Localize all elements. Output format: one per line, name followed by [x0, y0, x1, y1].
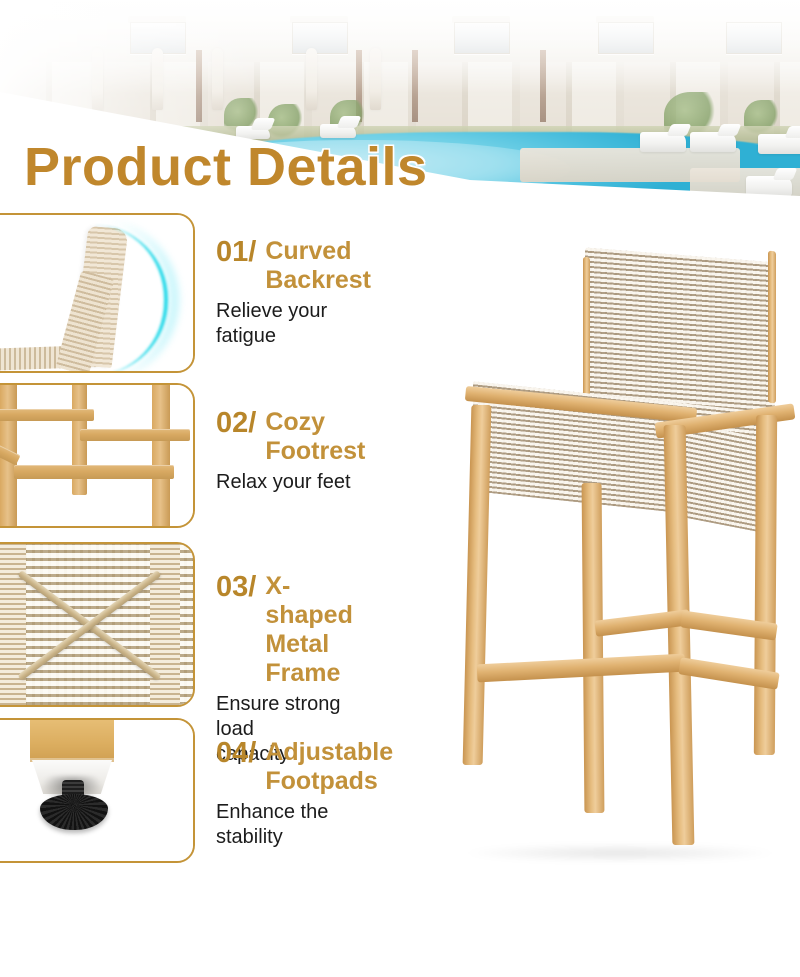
footrest-rail [0, 409, 94, 421]
feature-number-03: 03/ [216, 572, 256, 602]
feature-headline-03-line2: Metal Frame [265, 630, 353, 688]
banner-lounge-chair [690, 132, 736, 152]
feature-headline-04-line1: Adjustable [265, 738, 393, 767]
feature-number-02: 02/ [216, 408, 256, 438]
stool-backrest-weave [585, 248, 775, 413]
curved-backrest-thumbnail [0, 213, 195, 373]
mesh-side-rail [0, 544, 26, 705]
backrest-frame-right [768, 251, 776, 404]
page-title: Product Details [24, 136, 428, 198]
stool-leg-front-left [463, 405, 492, 765]
adjustable-footpads-thumbnail [0, 718, 195, 863]
banner-lounge-chair [746, 176, 792, 196]
feature-subtext-02: Relax your feet [216, 470, 365, 495]
banner-umbrella [212, 48, 223, 110]
feature-text-02: 02/ Cozy Footrest Relax your feet [216, 408, 365, 495]
banner-cabana-post [196, 50, 202, 122]
banner-umbrella [370, 48, 381, 110]
footrest-rail [14, 465, 174, 479]
banner-window [292, 22, 348, 54]
feature-headline-02-line2: Footrest [265, 437, 365, 466]
cozy-footrest-thumbnail [0, 383, 195, 528]
feature-number-01: 01/ [216, 237, 256, 267]
banner-lounge-chair [640, 132, 686, 152]
stool-leg [152, 385, 170, 526]
banner-cabana-post [412, 50, 418, 122]
footrest-rail [80, 429, 190, 441]
mesh-side-rail [150, 544, 180, 705]
stool-leg-front-right [582, 483, 605, 813]
feature-subtext-03-line1: Ensure strong load [216, 692, 353, 742]
x-shaped-metal-frame-thumbnail [0, 542, 195, 707]
product-image-bar-stool [455, 245, 800, 870]
header-banner: Product Details [0, 0, 800, 215]
feature-headline-01-line1: Curved [265, 237, 371, 266]
footrest-rail-front [477, 654, 686, 683]
banner-umbrella [306, 48, 317, 110]
banner-umbrella [152, 48, 163, 110]
feature-text-01: 01/ Curved Backrest Relieve your fatigue [216, 237, 371, 349]
feature-number-04: 04/ [216, 738, 256, 768]
stool-leg-back-left [754, 415, 777, 755]
feature-subtext-01: Relieve your fatigue [216, 299, 371, 349]
banner-window [454, 22, 510, 54]
banner-window [726, 22, 782, 54]
banner-lounge-chair [758, 134, 800, 154]
stool-leg-bottom [30, 720, 114, 762]
feature-headline-03-line1: X-shaped [265, 572, 353, 630]
feature-headline-02-line1: Cozy [265, 408, 365, 437]
product-floor-shadow [465, 844, 775, 862]
feature-subtext-04: Enhance the stability [216, 800, 393, 850]
banner-cabana-post [540, 50, 546, 122]
backrest-frame-left [583, 257, 590, 406]
banner-window [598, 22, 654, 54]
feature-headline-01-line2: Backrest [265, 266, 371, 295]
feature-text-04: 04/ Adjustable Footpads Enhance the stab… [216, 738, 393, 850]
feature-headline-04-line2: Footpads [265, 767, 393, 796]
banner-umbrella [92, 48, 103, 110]
